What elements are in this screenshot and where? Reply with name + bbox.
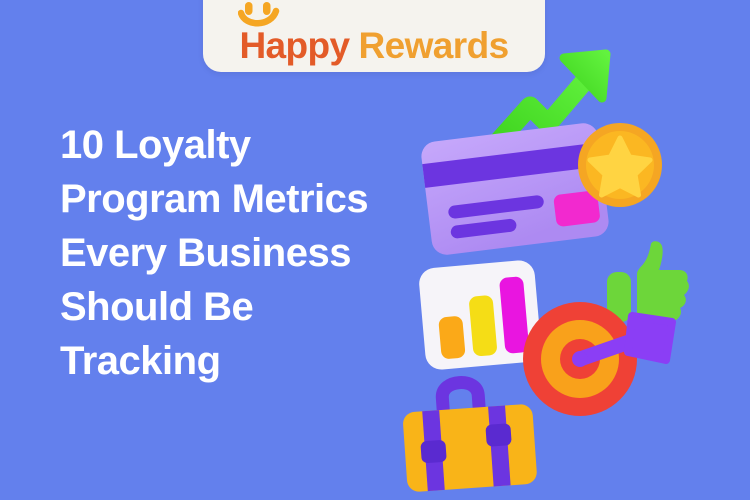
headline-line: Program Metrics — [60, 172, 420, 226]
briefcase-icon — [398, 370, 543, 500]
brand-name-primary: Happy — [239, 27, 349, 64]
headline-line: Every Business — [60, 226, 420, 280]
hero-illustration — [380, 40, 750, 500]
headline-line: Tracking — [60, 334, 420, 388]
headline-line: 10 Loyalty — [60, 118, 420, 172]
promo-banner: Happy Rewards 10 Loyalty Program Metrics… — [0, 0, 750, 500]
bar-1 — [438, 316, 466, 360]
page-title: 10 Loyalty Program Metrics Every Busines… — [60, 118, 420, 388]
happy-face-icon — [238, 2, 284, 28]
coin-star-icon — [575, 120, 665, 210]
target-dart-icon — [520, 300, 690, 418]
headline-line: Should Be — [60, 280, 420, 334]
